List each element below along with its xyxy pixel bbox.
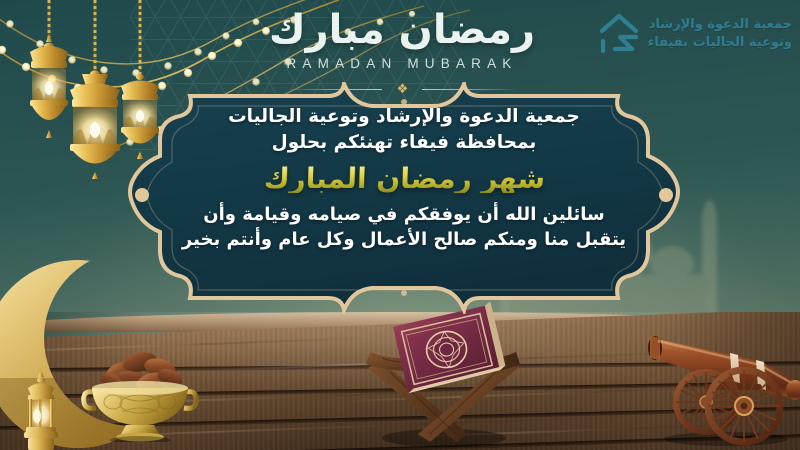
association-logo-mark bbox=[597, 11, 641, 57]
floor-lantern-lamp bbox=[12, 370, 70, 450]
greeting-closing-line-1: سائلين الله أن يوفقكم في صيامه وقيامة وأ… bbox=[203, 202, 605, 228]
calligraphy-ramadan-mubarak: شهر رمضان المبارك bbox=[263, 165, 545, 193]
logo-line-2: وتوعية الجاليات بفيفاء bbox=[648, 34, 792, 52]
association-logo-text: جمعية الدعوة والإرشاد وتوعية الجاليات بف… bbox=[648, 16, 792, 52]
greeting-line-2: بمحافظة فيفاء تهنئكم بحلول bbox=[272, 130, 537, 156]
greeting-plaque: جمعية الدعوة والإرشاد وتوعية الجاليات بم… bbox=[128, 82, 680, 314]
logo-line-1: جمعية الدعوة والإرشاد bbox=[648, 16, 792, 34]
ramadan-greeting-card: رمضان مبارك RAMADAN MUBARAK ❖ جمعية الدع… bbox=[0, 0, 800, 450]
lantern-chain bbox=[94, 0, 97, 72]
quran-on-rehal bbox=[360, 302, 528, 448]
greeting-line-1: جمعية الدعوة والإرشاد وتوعية الجاليات bbox=[228, 104, 580, 130]
ramadan-cannon bbox=[644, 306, 800, 446]
header-title-block: رمضان مبارك RAMADAN MUBARAK bbox=[252, 8, 552, 72]
dates-bowl bbox=[78, 330, 202, 442]
lantern-chain bbox=[139, 0, 142, 76]
english-title: RAMADAN MUBARAK bbox=[252, 56, 552, 71]
greeting-text-block: جمعية الدعوة والإرشاد وتوعية الجاليات بم… bbox=[182, 104, 626, 300]
association-logo[interactable]: جمعية الدعوة والإرشاد وتوعية الجاليات بف… bbox=[597, 6, 792, 62]
arabic-title: رمضان مبارك bbox=[252, 8, 552, 52]
lantern-chain bbox=[48, 0, 51, 38]
greeting-closing-line-2: يتقبل منا ومنكم صالح الأعمال وكل عام وأن… bbox=[182, 227, 626, 253]
